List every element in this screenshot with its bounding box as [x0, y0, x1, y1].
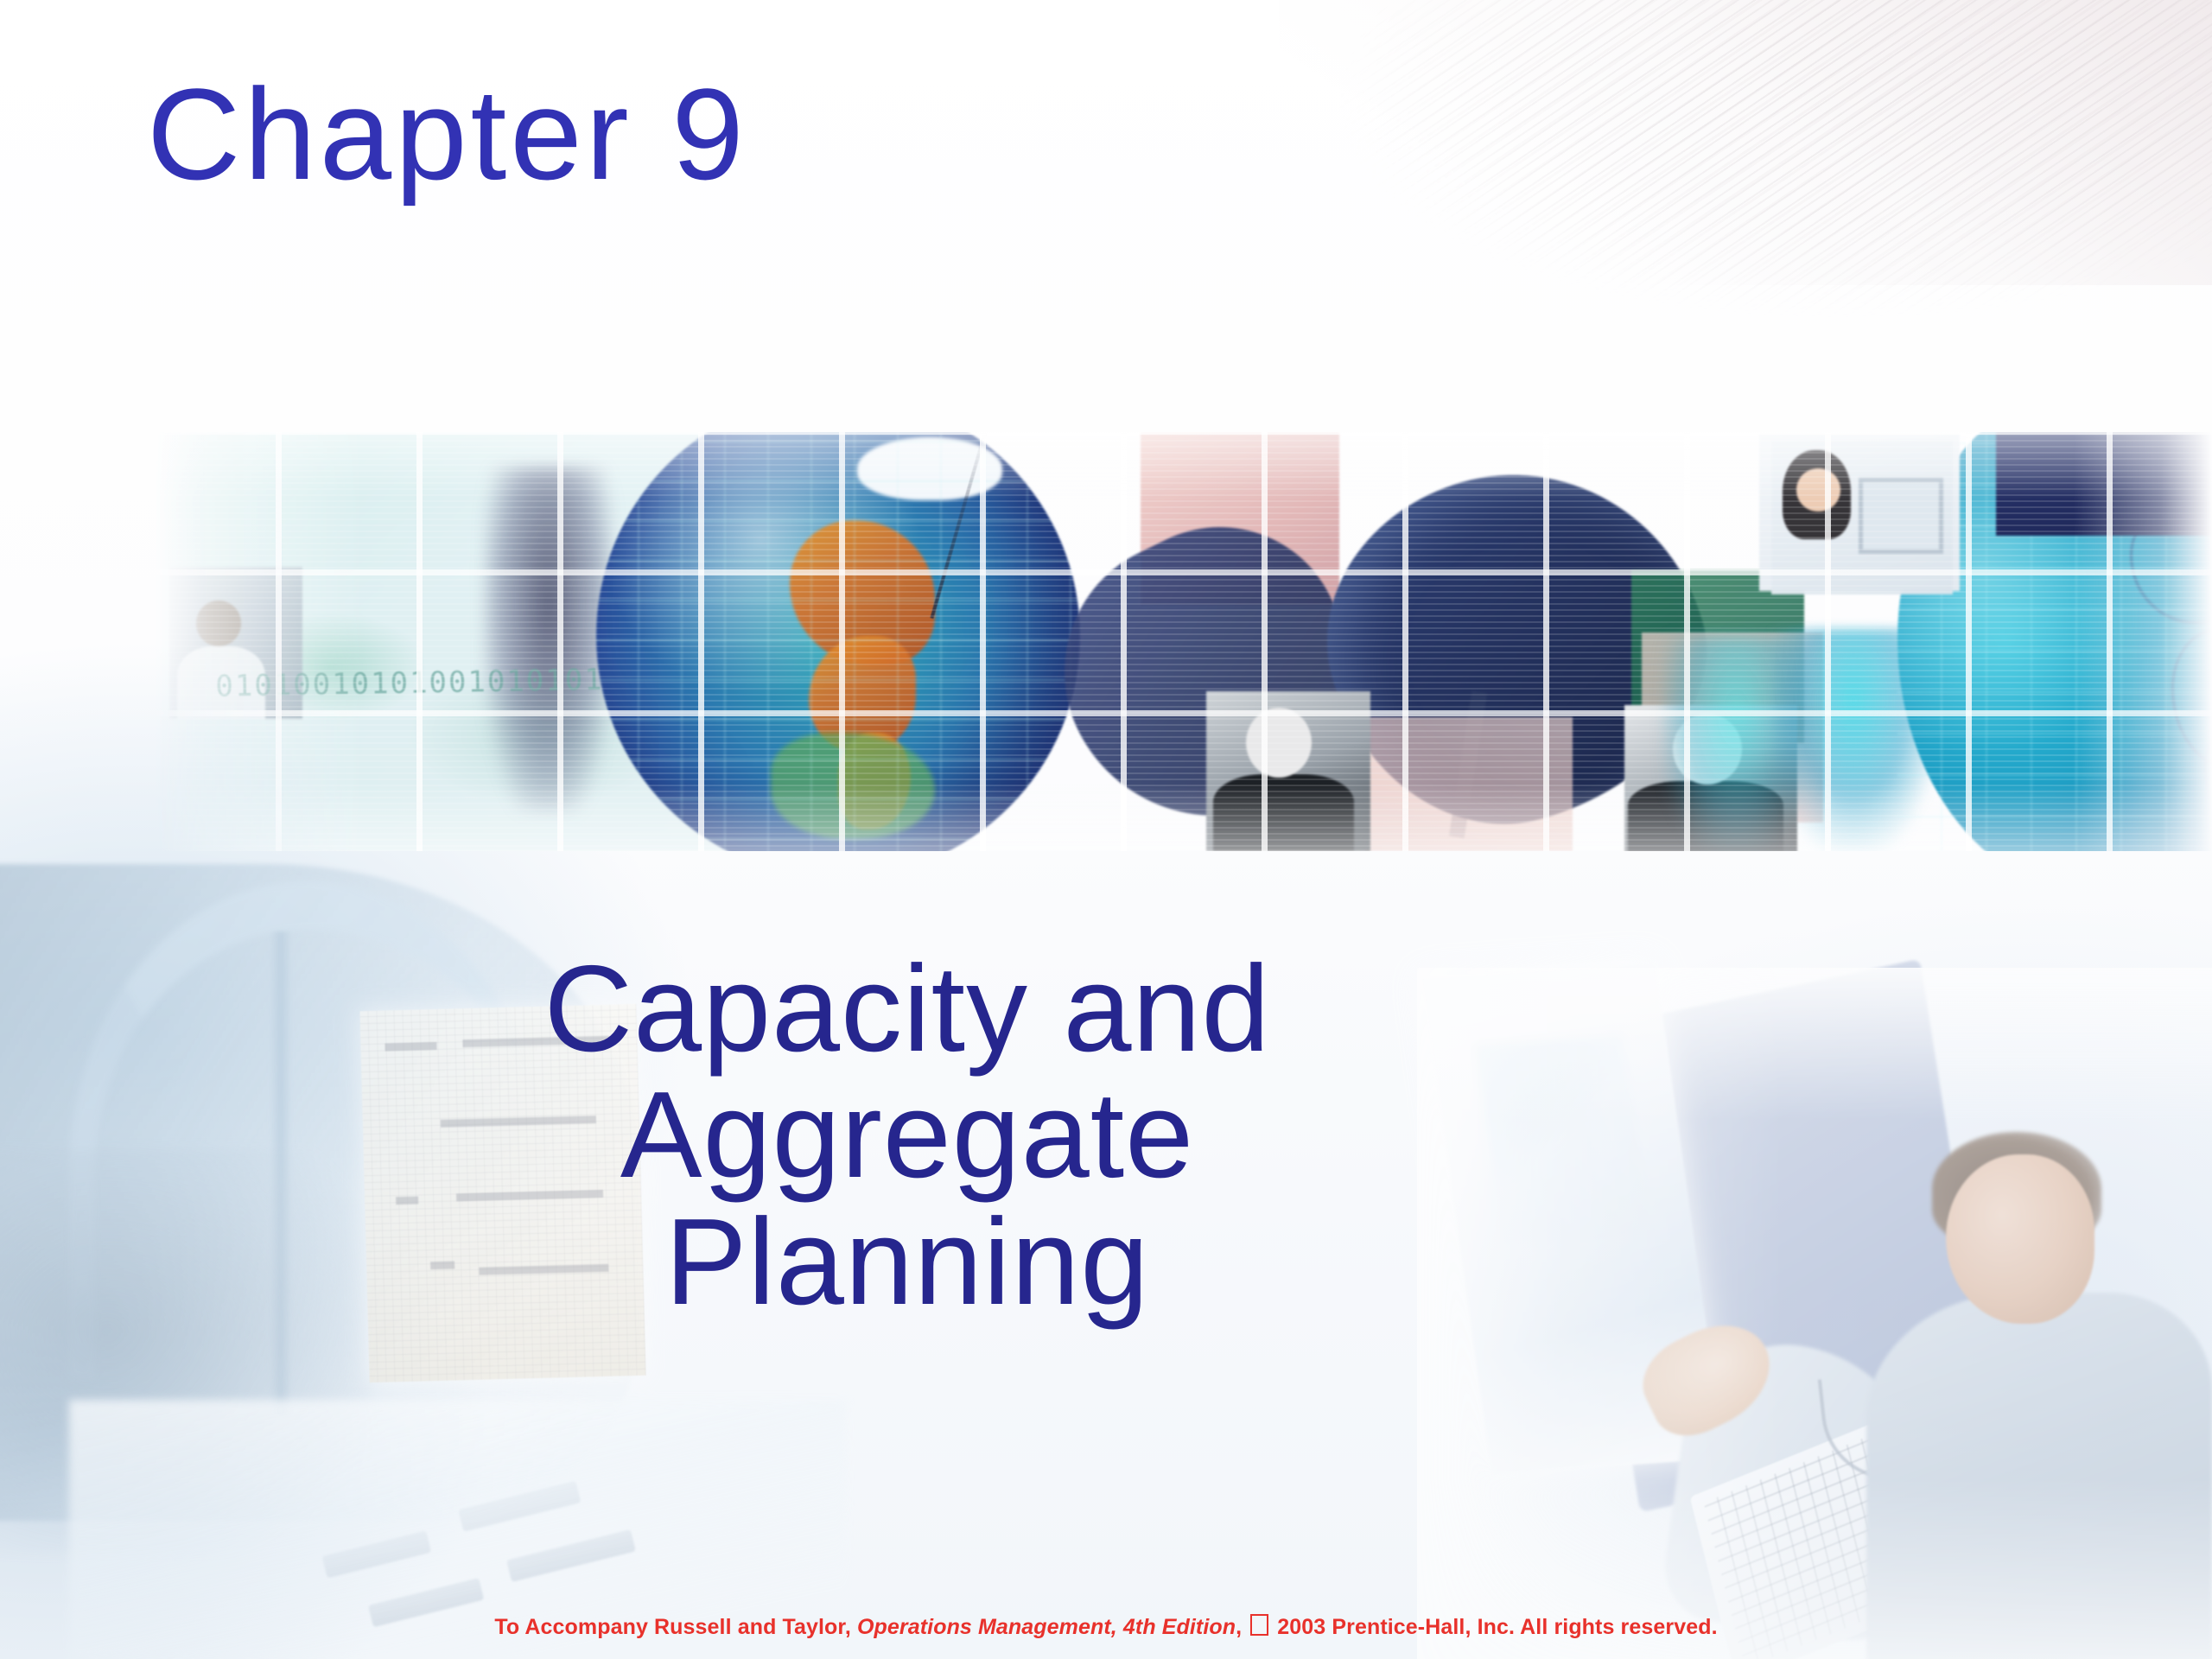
footer-suffix: 2003 Prentice-Hall, Inc. All rights rese…: [1271, 1615, 1717, 1639]
footer-credit-line: To Accompany Russell and Taylor, Operati…: [0, 1614, 2212, 1640]
technology-collage-banner: 0101001010100101010100101010010101001010…: [0, 432, 2212, 851]
newsprint-texture-icon: [1238, 0, 2212, 346]
slide-title-line-2: Aggregate: [207, 1072, 1607, 1198]
slide-title-line-3: Planning: [207, 1199, 1607, 1325]
copyright-notdef-glyph-icon: [1250, 1614, 1268, 1636]
footer-book-title: Operations Management, 4th Edition: [857, 1615, 1236, 1639]
slide-title: Capacity and Aggregate Planning: [207, 946, 1607, 1325]
footer-prefix: To Accompany Russell and Taylor,: [494, 1615, 857, 1639]
chapter-label: Chapter 9: [147, 69, 747, 199]
footer-comma: ,: [1236, 1615, 1248, 1639]
slide-title-line-1: Capacity and: [207, 946, 1607, 1072]
presentation-slide: 0101001010100101010100101010010101001010…: [0, 0, 2212, 1659]
